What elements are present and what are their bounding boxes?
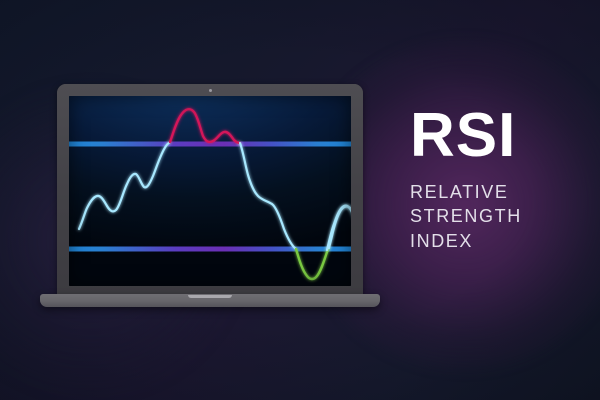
laptop-trackpad-notch [188, 295, 232, 298]
poster-canvas: RSI RELATIVE STRENGTH INDEX [0, 0, 600, 400]
subtitle-line-3: INDEX [410, 229, 590, 254]
laptop-screen [69, 96, 351, 286]
page-subtitle: RELATIVE STRENGTH INDEX [410, 180, 590, 254]
title-block: RSI RELATIVE STRENGTH INDEX [410, 106, 590, 254]
subtitle-line-1: RELATIVE [410, 180, 590, 205]
laptop-mockup [40, 84, 380, 314]
subtitle-line-2: STRENGTH [410, 204, 590, 229]
laptop-base [40, 294, 380, 307]
page-title: RSI [410, 106, 590, 166]
screen-inner-shadow [69, 96, 351, 286]
laptop-lid [57, 84, 363, 296]
webcam-icon [209, 89, 212, 92]
